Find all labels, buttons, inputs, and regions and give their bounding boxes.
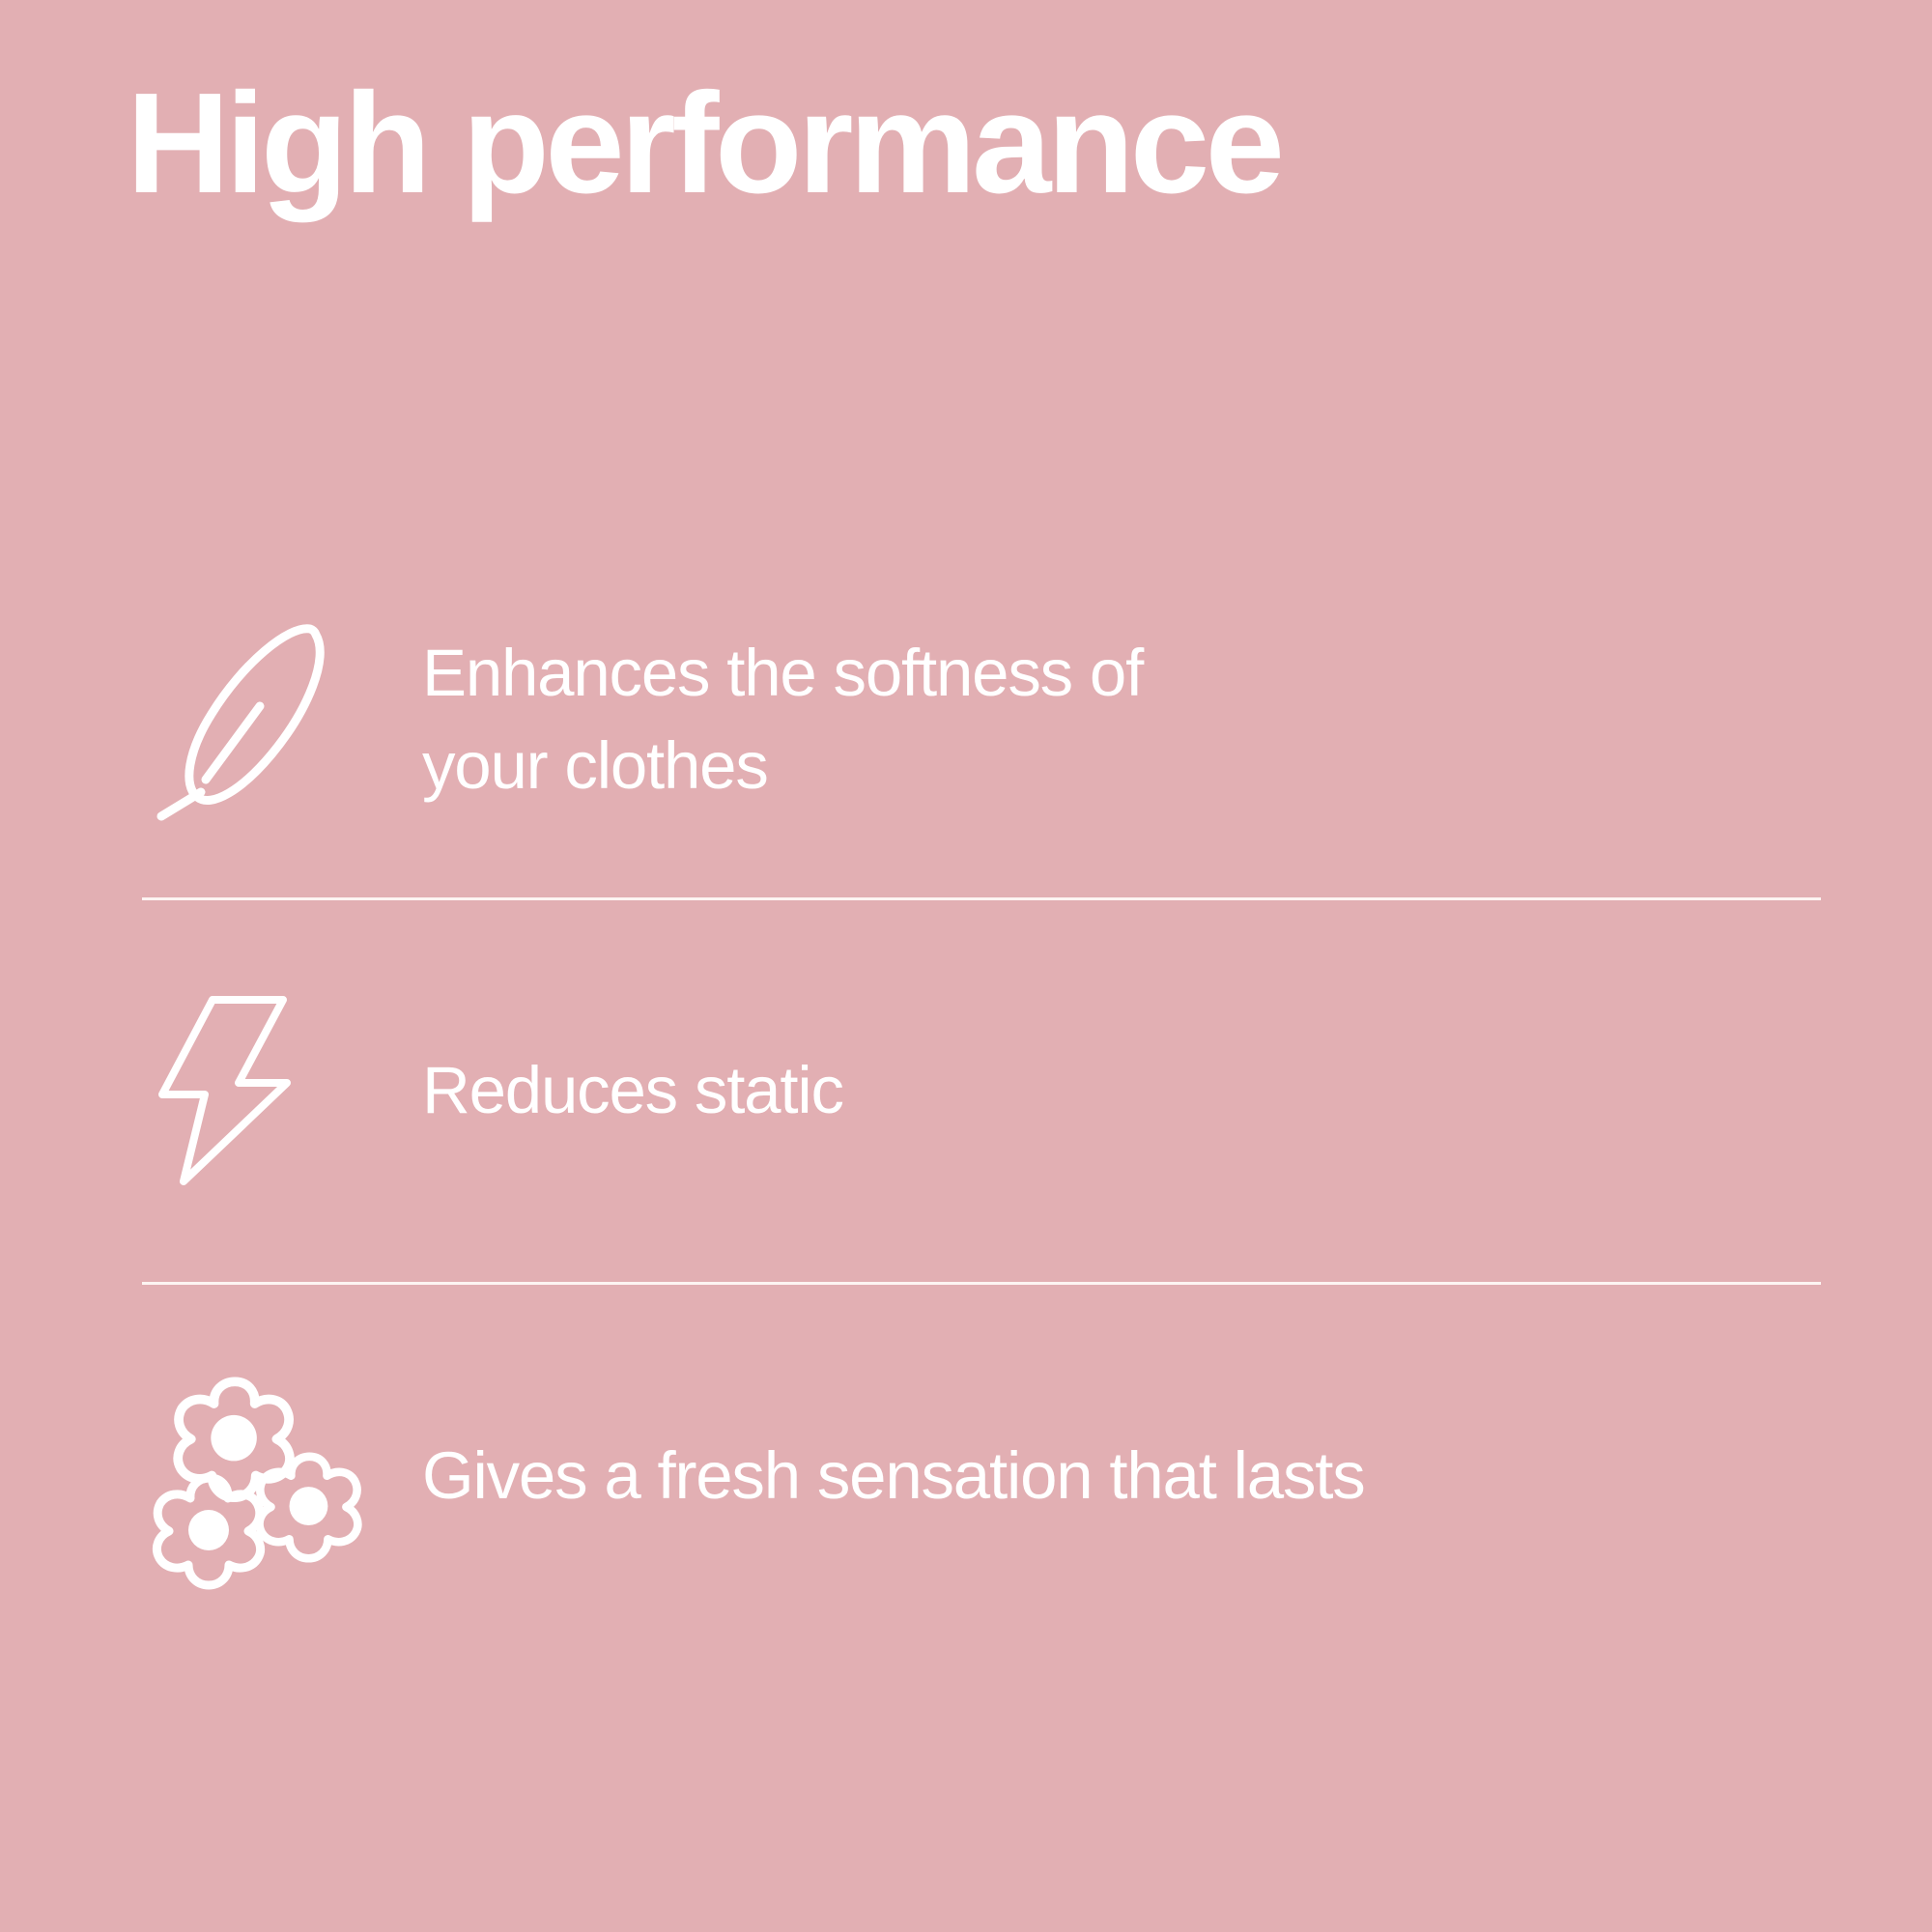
feature-item-softness: Enhances the softness of your clothes [0,541,1932,898]
divider [142,1282,1821,1285]
flowers-icon [127,1350,422,1602]
feature-list: Enhances the softness of your clothes Re… [0,541,1932,1669]
feather-icon [127,594,422,845]
divider [142,897,1821,900]
feature-item-static: Reduces static [0,898,1932,1283]
lightning-bolt-icon [127,965,422,1216]
feature-label: Reduces static [422,1044,843,1137]
feature-item-freshness: Gives a fresh sensation that lasts [0,1283,1932,1669]
page-title: High performance [127,72,1827,215]
feature-label: Gives a fresh sensation that lasts [422,1430,1365,1522]
promo-card: High performance Enhances the softness o… [0,0,1932,1932]
feature-label: Enhances the softness of your clothes [422,627,1143,812]
